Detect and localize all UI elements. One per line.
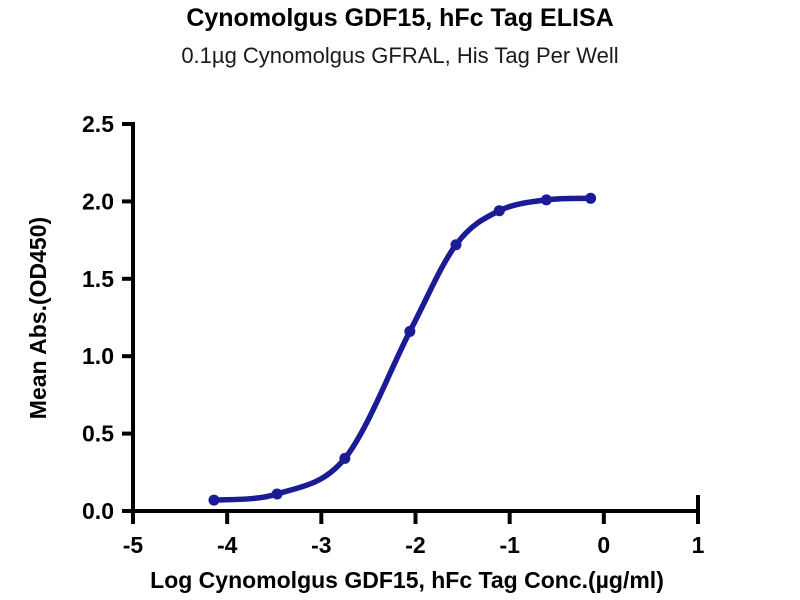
x-tick-label: 0 <box>597 532 610 558</box>
data-point-marker <box>450 239 461 250</box>
chart-subtitle: 0.1µg Cynomolgus GFRAL, His Tag Per Well <box>181 43 618 68</box>
data-point-marker <box>494 205 505 216</box>
x-tick-label: -2 <box>405 532 425 558</box>
y-tick-label: 2.5 <box>82 111 114 137</box>
data-point-marker <box>404 326 415 337</box>
x-tick-label: -3 <box>311 532 331 558</box>
data-point-marker <box>541 194 552 205</box>
y-tick-label: 2.0 <box>82 188 114 214</box>
data-point-marker <box>208 495 219 506</box>
data-point-marker <box>272 488 283 499</box>
x-axis-title: Log Cynomolgus GDF15, hFc Tag Conc.(µg/m… <box>150 567 664 593</box>
data-point-marker <box>585 193 596 204</box>
y-axis-title: Mean Abs.(OD450) <box>25 217 51 419</box>
x-tick-label: -1 <box>499 532 520 558</box>
data-point-marker <box>339 453 350 464</box>
elisa-chart-figure: Cynomolgus GDF15, hFc Tag ELISA 0.1µg Cy… <box>0 0 800 600</box>
x-tick-label: -5 <box>123 532 144 558</box>
y-tick-label: 1.0 <box>82 343 114 369</box>
y-tick-label: 1.5 <box>82 266 114 292</box>
y-tick-label: 0.5 <box>82 421 114 447</box>
x-tick-label: -4 <box>217 532 238 558</box>
x-tick-label: 1 <box>692 532 705 558</box>
y-tick-label: 0.0 <box>82 498 114 524</box>
chart-title: Cynomolgus GDF15, hFc Tag ELISA <box>186 4 613 32</box>
